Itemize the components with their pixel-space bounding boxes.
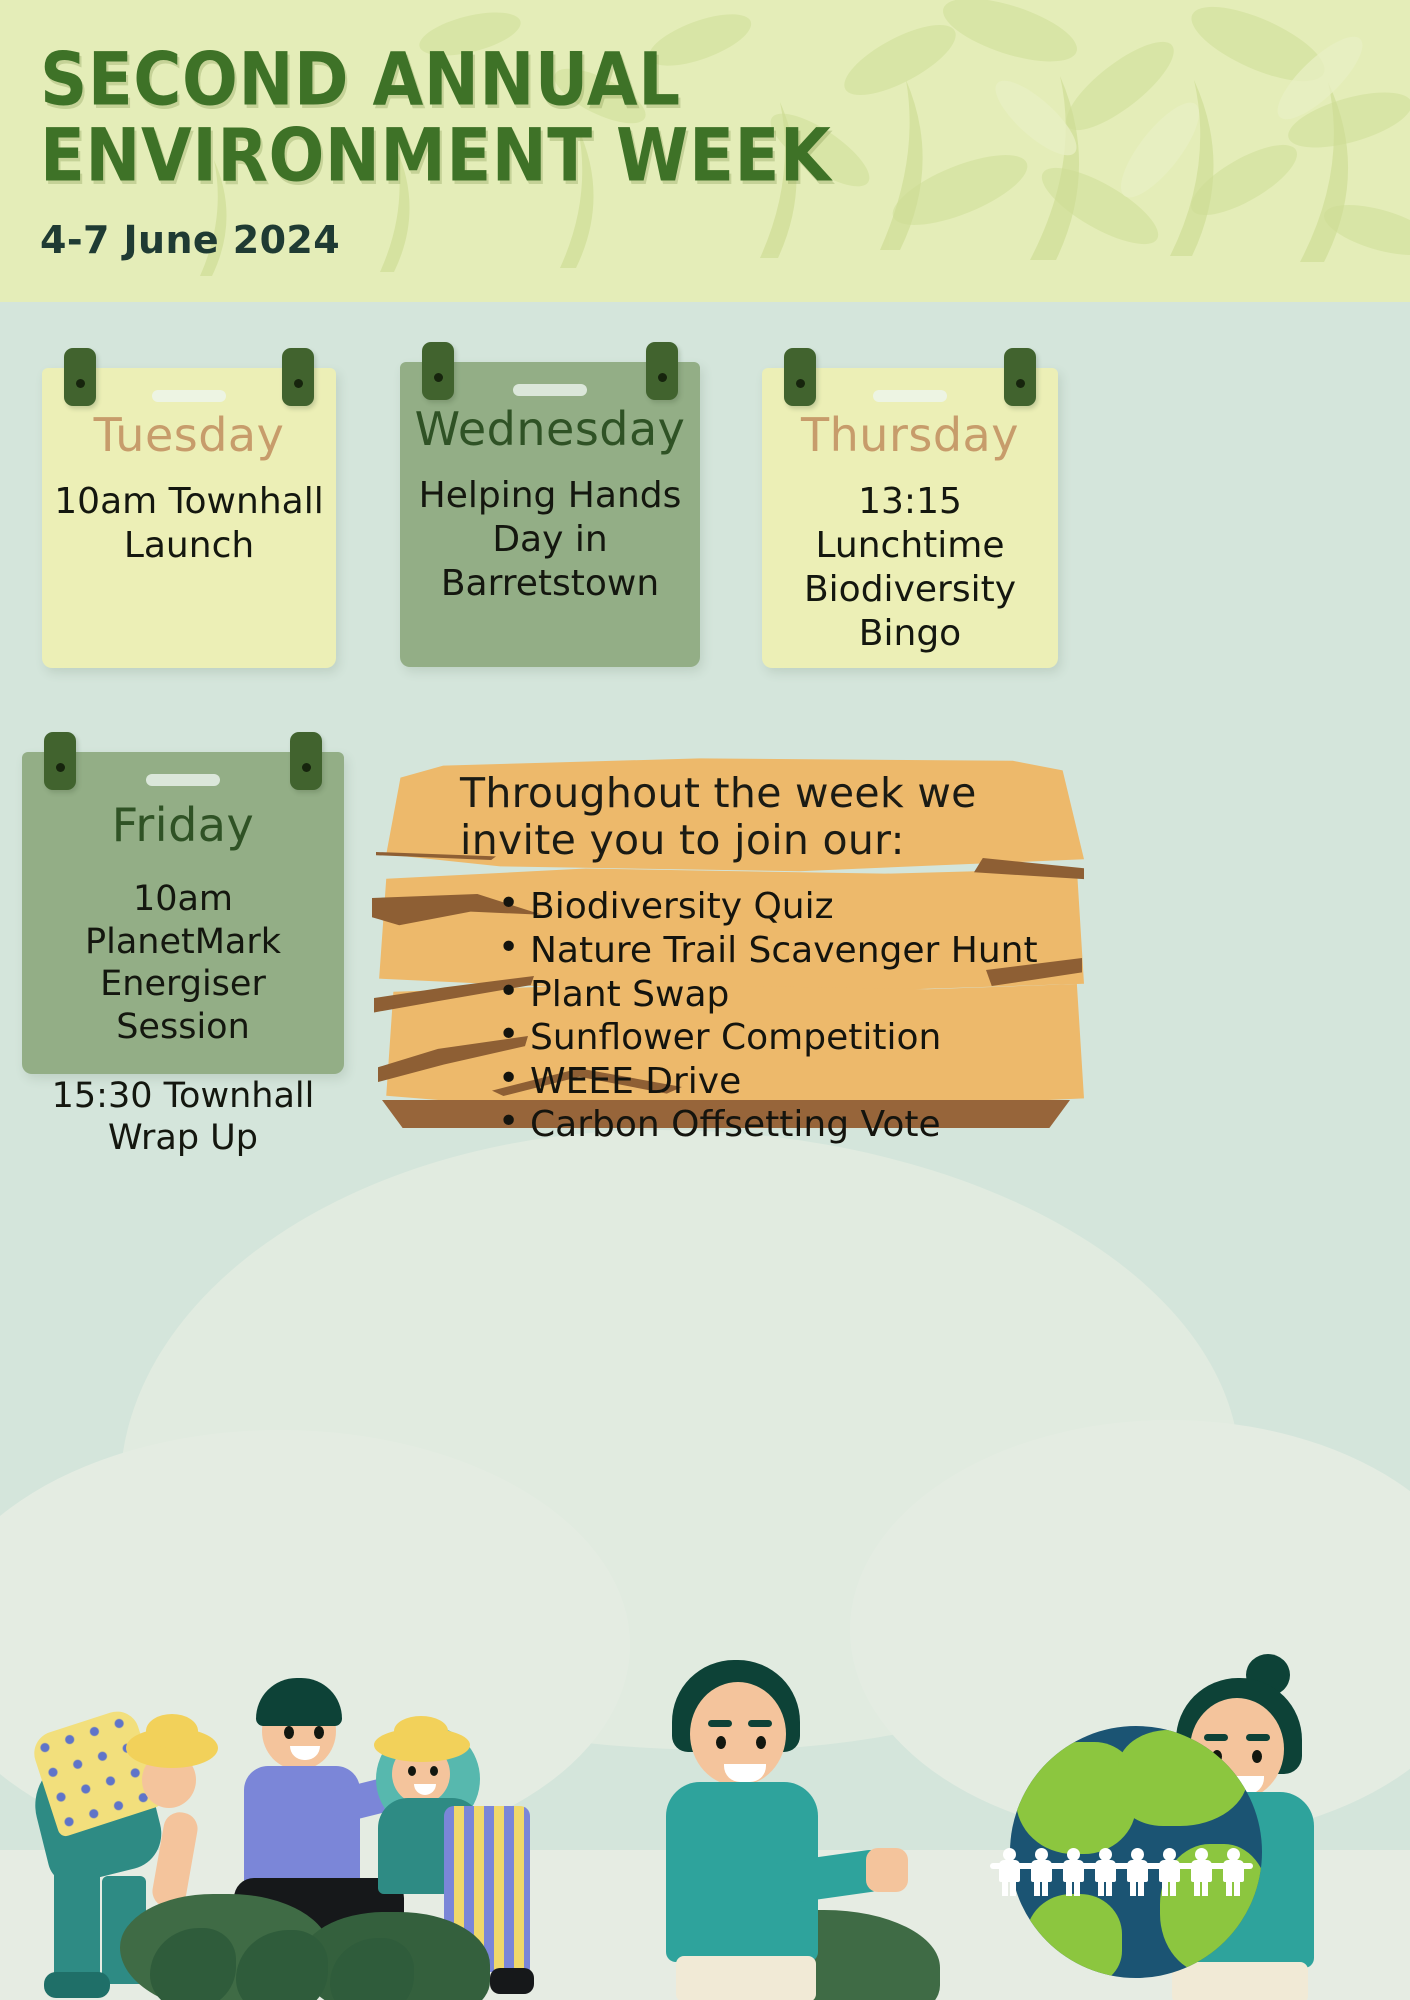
- eye: [756, 1736, 766, 1749]
- paper-doll-icon: [1026, 1848, 1056, 1896]
- poster-header: SECOND ANNUAL ENVIRONMENT WEEK 4-7 June …: [0, 0, 1410, 302]
- globe-landmass: [1118, 1730, 1248, 1826]
- sun-hat-crown-icon: [146, 1714, 198, 1748]
- schedule-card-thursday[interactable]: Thursday 13:15 Lunchtime Biodiversity Bi…: [762, 368, 1058, 668]
- schedule-entry: 10am Townhall Launch: [54, 480, 324, 568]
- event-dates: 4-7 June 2024: [40, 218, 1410, 262]
- activity-item: Plant Swap: [498, 973, 1066, 1017]
- schedule-entry: Helping Hands Day in Barretstown: [412, 474, 688, 606]
- activity-item: WEEE Drive: [498, 1060, 1066, 1104]
- bottom-illustration: [0, 1570, 1410, 2000]
- note-body: 13:15 Lunchtime Biodiversity Bingo: [762, 462, 1058, 656]
- eye: [1252, 1750, 1262, 1763]
- eye: [408, 1766, 416, 1776]
- figure-globe-holder-left: [660, 1660, 920, 2000]
- paper-doll-icon: [1186, 1848, 1216, 1896]
- schedule-card-wednesday[interactable]: Wednesday Helping Hands Day in Barretsto…: [400, 362, 700, 667]
- day-label: Thursday: [762, 408, 1058, 462]
- clip-icon: [64, 348, 96, 406]
- clip-icon: [784, 348, 816, 406]
- schedule-entry: 15:30 Townhall Wrap Up: [34, 1075, 332, 1160]
- note-tab: [146, 774, 220, 786]
- paper-doll-icon: [1122, 1848, 1152, 1896]
- day-label: Tuesday: [42, 408, 336, 462]
- eye: [430, 1766, 438, 1776]
- paper-doll-icon: [1154, 1848, 1184, 1896]
- paper-doll-icon: [994, 1848, 1024, 1896]
- activities-list: Biodiversity Quiz Nature Trail Scavenger…: [452, 885, 1066, 1146]
- note-tab: [152, 390, 226, 402]
- clip-icon: [1004, 348, 1036, 406]
- shoe: [44, 1972, 110, 1998]
- activity-item: Nature Trail Scavenger Hunt: [498, 929, 1066, 973]
- eyebrow: [1246, 1734, 1270, 1741]
- paper-doll-chain-icon: [994, 1840, 1294, 1896]
- activity-item: Sunflower Competition: [498, 1016, 1066, 1060]
- leg: [54, 1868, 100, 1984]
- trousers: [676, 1956, 816, 2000]
- schedule-card-tuesday[interactable]: Tuesday 10am Townhall Launch: [42, 368, 336, 668]
- sign-content: Throughout the week we invite you to joi…: [452, 770, 1066, 1147]
- day-label: Friday: [22, 798, 344, 852]
- eye: [716, 1736, 726, 1749]
- note-body: Helping Hands Day in Barretstown: [400, 456, 700, 606]
- activity-item: Carbon Offsetting Vote: [498, 1103, 1066, 1147]
- hair: [256, 1678, 342, 1726]
- shoe: [490, 1968, 534, 1994]
- paper-doll-icon: [1058, 1848, 1088, 1896]
- eye: [284, 1726, 294, 1739]
- activities-wooden-sign: Throughout the week we invite you to joi…: [372, 748, 1084, 1160]
- schedule-entry: 13:15 Lunchtime Biodiversity Bingo: [774, 480, 1046, 656]
- eyebrow: [708, 1720, 732, 1727]
- eye: [314, 1726, 324, 1739]
- sun-hat-crown-icon: [394, 1716, 448, 1746]
- schedule-entry: 10am PlanetMark Energiser Session: [34, 878, 332, 1049]
- paper-doll-icon: [1218, 1848, 1248, 1896]
- paper-doll-icon: [1090, 1848, 1120, 1896]
- page-title-line-2: ENVIRONMENT WEEK: [40, 118, 1410, 193]
- note-tab: [513, 384, 587, 396]
- clip-icon: [290, 732, 322, 790]
- poster-root: SECOND ANNUAL ENVIRONMENT WEEK 4-7 June …: [0, 0, 1410, 2000]
- sign-heading: Throughout the week we invite you to joi…: [452, 770, 1066, 863]
- torso: [244, 1766, 360, 1890]
- eyebrow: [748, 1720, 772, 1727]
- clip-icon: [422, 342, 454, 400]
- clip-icon: [282, 348, 314, 406]
- hand: [866, 1848, 908, 1892]
- clip-icon: [646, 342, 678, 400]
- globe-landmass: [1026, 1894, 1122, 1978]
- note-body: 10am PlanetMark Energiser Session 15:30 …: [22, 852, 344, 1160]
- clip-icon: [44, 732, 76, 790]
- activity-item: Biodiversity Quiz: [498, 885, 1066, 929]
- page-title-line-1: SECOND ANNUAL: [40, 42, 1410, 117]
- note-body: 10am Townhall Launch: [42, 462, 336, 568]
- note-tab: [873, 390, 947, 402]
- schedule-card-friday[interactable]: Friday 10am PlanetMark Energiser Session…: [22, 752, 344, 1074]
- day-label: Wednesday: [400, 402, 700, 456]
